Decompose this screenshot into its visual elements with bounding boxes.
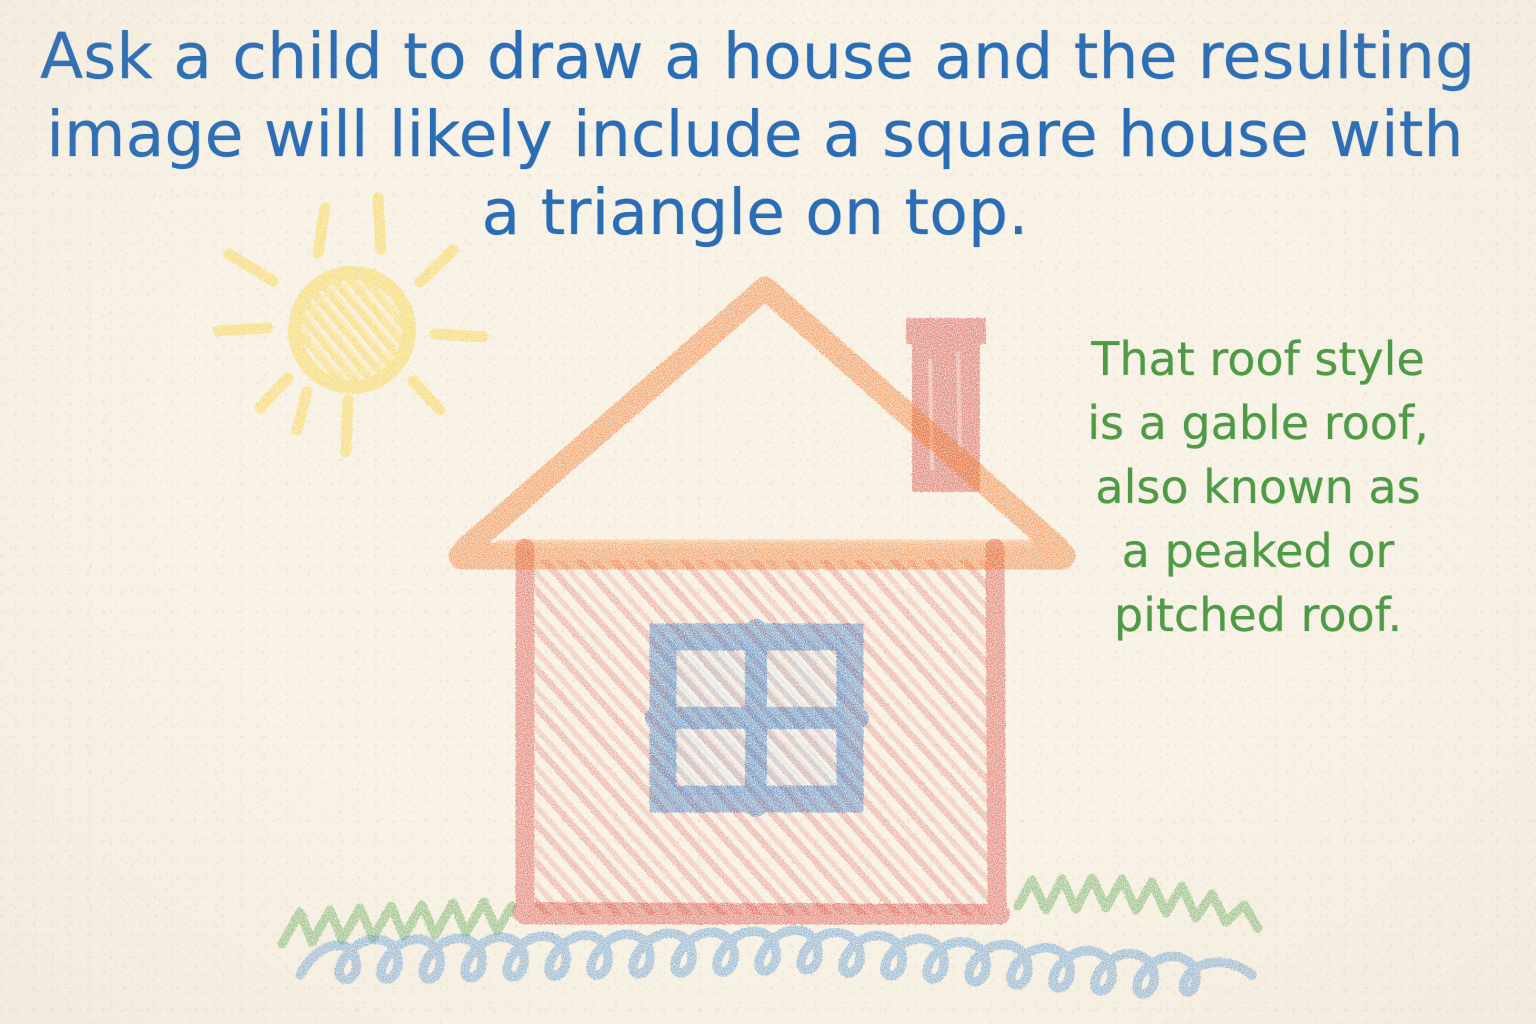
ground-scribble <box>300 930 1252 994</box>
grass-right <box>1018 878 1258 928</box>
headline-line-2: image will likely include a square house… <box>40 96 1470 174</box>
sidenote-line-4: a peaked or <box>1058 519 1458 583</box>
sidenote-line-1: That roof style <box>1058 327 1458 391</box>
headline-text: Ask a child to draw a house and the resu… <box>40 18 1470 252</box>
drawing-canvas: Ask a child to draw a house and the resu… <box>0 0 1536 1024</box>
sidenote-line-2: is a gable roof, <box>1058 391 1458 455</box>
headline-line-1: Ask a child to draw a house and the resu… <box>40 18 1470 96</box>
window <box>656 630 858 806</box>
headline-line-3: a triangle on top. <box>40 174 1470 252</box>
sidenote-line-5: pitched roof. <box>1058 583 1458 647</box>
sidenote-line-3: also known as <box>1058 455 1458 519</box>
sun-body <box>295 273 409 387</box>
grass-left <box>282 902 512 944</box>
sidenote-text: That roof style is a gable roof, also kn… <box>1058 327 1458 647</box>
